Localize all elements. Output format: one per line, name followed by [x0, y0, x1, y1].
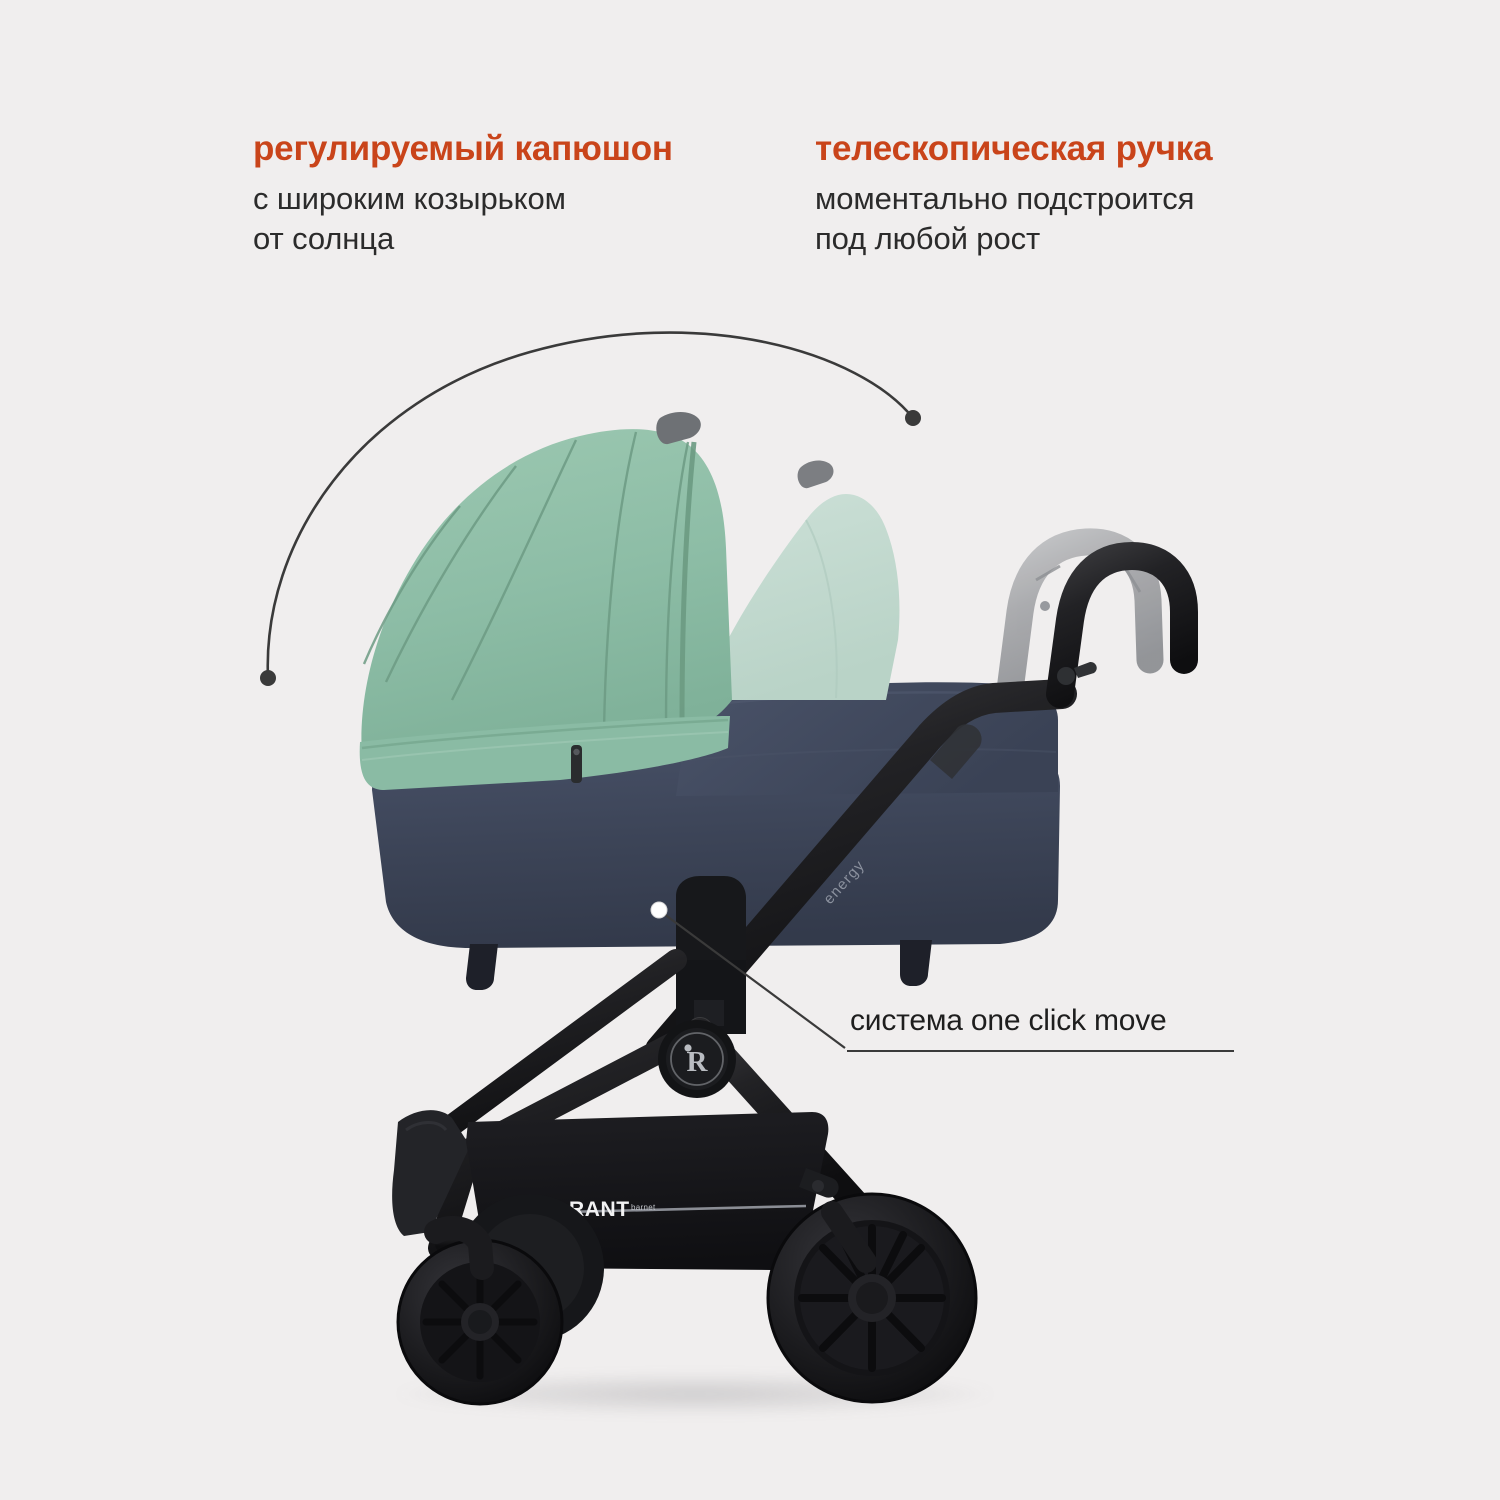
- bassinet-foot-front: [466, 944, 498, 990]
- callout-one-click-move: система one click move: [850, 1006, 1167, 1036]
- callout-handle-subtitle-line-1: моментально подстроится: [815, 179, 1212, 219]
- stroller-vector: energy RANT: [0, 0, 1500, 1500]
- frame-hub-badge: R: [658, 1020, 736, 1098]
- callout-handle-subtitle-line-2: под любой рост: [815, 219, 1212, 259]
- front-wheel-pair: [398, 1194, 604, 1404]
- one-click-move-underline: [847, 1050, 1234, 1052]
- svg-text:barnet: barnet: [631, 1203, 656, 1212]
- canopy-zipper: [571, 745, 582, 783]
- callout-canopy-subtitle-line-1: с широким козырьком: [253, 179, 673, 219]
- callout-handle: телескопическая ручка моментально подстр…: [815, 131, 1212, 260]
- bassinet-foot-rear: [900, 940, 932, 986]
- callout-canopy-title: регулируемый капюшон: [253, 131, 673, 166]
- callout-handle-subtitle: моментально подстроится под любой рост: [815, 179, 1212, 260]
- one-click-move-label: система one click move: [850, 1006, 1167, 1036]
- canopy-tip-cap: [656, 412, 701, 444]
- product-illustration: energy RANT: [0, 0, 1500, 1500]
- rear-wheel: [768, 1194, 976, 1402]
- callout-canopy-subtitle: с широким козырьком от солнца: [253, 179, 673, 260]
- canopy-main: [361, 429, 732, 765]
- callout-canopy: регулируемый капюшон с широким козырьком…: [253, 131, 673, 260]
- callout-canopy-subtitle-line-2: от солнца: [253, 219, 673, 259]
- callout-handle-title: телескопическая ручка: [815, 131, 1212, 166]
